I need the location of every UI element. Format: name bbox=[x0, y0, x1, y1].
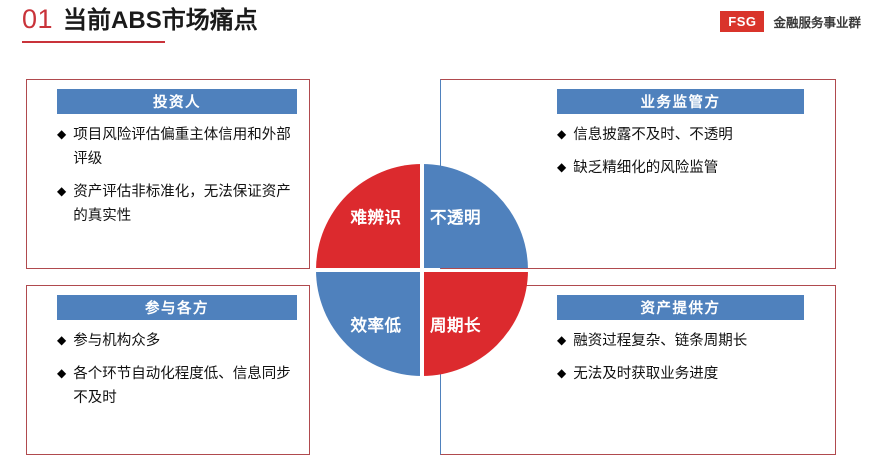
wheel-quadrant-low-efficiency: 效率低 bbox=[316, 272, 420, 376]
section-title: 当前ABS市场痛点 bbox=[63, 9, 258, 33]
list-item: ◆ 参与机构众多 bbox=[57, 330, 305, 354]
list-item-text: 参与机构众多 bbox=[73, 330, 305, 354]
section-number: 01 bbox=[22, 6, 53, 33]
list-item: ◆ 资产评估非标准化，无法保证资产的真实性 bbox=[57, 181, 305, 229]
list-item: ◆ 项目风险评估偏重主体信用和外部评级 bbox=[57, 124, 305, 172]
diamond-bullet-icon: ◆ bbox=[557, 125, 566, 145]
list-item-text: 融资过程复杂、链条周期长 bbox=[573, 330, 829, 354]
diamond-bullet-icon: ◆ bbox=[57, 331, 66, 351]
panel-investor-title: 投资人 bbox=[57, 89, 297, 114]
panel-investor-bullets: ◆ 项目风险评估偏重主体信用和外部评级 ◆ 资产评估非标准化，无法保证资产的真实… bbox=[57, 124, 305, 238]
diamond-bullet-icon: ◆ bbox=[57, 125, 66, 145]
wheel-quadrant-label: 效率低 bbox=[351, 312, 402, 336]
center-wheel-diagram: 难辨识 不透明 效率低 周期长 bbox=[316, 164, 528, 376]
page-title: 01 当前ABS市场痛点 bbox=[22, 6, 258, 33]
panel-regulator-bullets: ◆ 信息披露不及时、不透明 ◆ 缺乏精细化的风险监管 bbox=[557, 124, 819, 190]
slide-header: 01 当前ABS市场痛点 FSG 金融服务事业群 bbox=[0, 0, 873, 56]
diamond-bullet-icon: ◆ bbox=[57, 364, 66, 384]
title-underline bbox=[22, 41, 165, 43]
list-item-text: 项目风险评估偏重主体信用和外部评级 bbox=[73, 124, 305, 172]
diamond-bullet-icon: ◆ bbox=[57, 182, 66, 202]
panel-asset-provider-title: 资产提供方 bbox=[557, 295, 804, 320]
wheel-quadrant-label: 不透明 bbox=[430, 204, 481, 228]
diamond-bullet-icon: ◆ bbox=[557, 331, 566, 351]
list-item: ◆ 信息披露不及时、不透明 bbox=[557, 124, 819, 148]
wheel-quadrant-opaque: 不透明 bbox=[424, 164, 528, 268]
list-item: ◆ 无法及时获取业务进度 bbox=[557, 363, 829, 387]
brand-mark: FSG bbox=[720, 11, 764, 32]
list-item: ◆ 各个环节自动化程度低、信息同步不及时 bbox=[57, 363, 305, 411]
slide-canvas: 01 当前ABS市场痛点 FSG 金融服务事业群 投资人 ◆ 项目风险评估偏重主… bbox=[0, 0, 873, 476]
brand-name: 金融服务事业群 bbox=[764, 11, 861, 32]
diamond-bullet-icon: ◆ bbox=[557, 158, 566, 178]
wheel-quadrant-long-cycle: 周期长 bbox=[424, 272, 528, 376]
list-item-text: 各个环节自动化程度低、信息同步不及时 bbox=[73, 363, 305, 411]
brand-logo: FSG 金融服务事业群 bbox=[720, 11, 861, 32]
list-item: ◆ 缺乏精细化的风险监管 bbox=[557, 157, 819, 181]
panel-participants-bullets: ◆ 参与机构众多 ◆ 各个环节自动化程度低、信息同步不及时 bbox=[57, 330, 305, 420]
panel-participants-title: 参与各方 bbox=[57, 295, 297, 320]
list-item-text: 无法及时获取业务进度 bbox=[573, 363, 829, 387]
list-item-text: 信息披露不及时、不透明 bbox=[573, 124, 819, 148]
wheel-quadrant-label: 周期长 bbox=[430, 312, 481, 336]
wheel-quadrant-hard-to-identify: 难辨识 bbox=[316, 164, 420, 268]
list-item-text: 缺乏精细化的风险监管 bbox=[573, 157, 819, 181]
panel-participants: 参与各方 ◆ 参与机构众多 ◆ 各个环节自动化程度低、信息同步不及时 bbox=[26, 285, 310, 455]
panel-regulator-title: 业务监管方 bbox=[557, 89, 804, 114]
list-item-text: 资产评估非标准化，无法保证资产的真实性 bbox=[73, 181, 305, 229]
wheel-quadrant-label: 难辨识 bbox=[351, 204, 402, 228]
panel-investor: 投资人 ◆ 项目风险评估偏重主体信用和外部评级 ◆ 资产评估非标准化，无法保证资… bbox=[26, 79, 310, 269]
list-item: ◆ 融资过程复杂、链条周期长 bbox=[557, 330, 829, 354]
panel-asset-provider-bullets: ◆ 融资过程复杂、链条周期长 ◆ 无法及时获取业务进度 bbox=[557, 330, 829, 396]
diamond-bullet-icon: ◆ bbox=[557, 364, 566, 384]
